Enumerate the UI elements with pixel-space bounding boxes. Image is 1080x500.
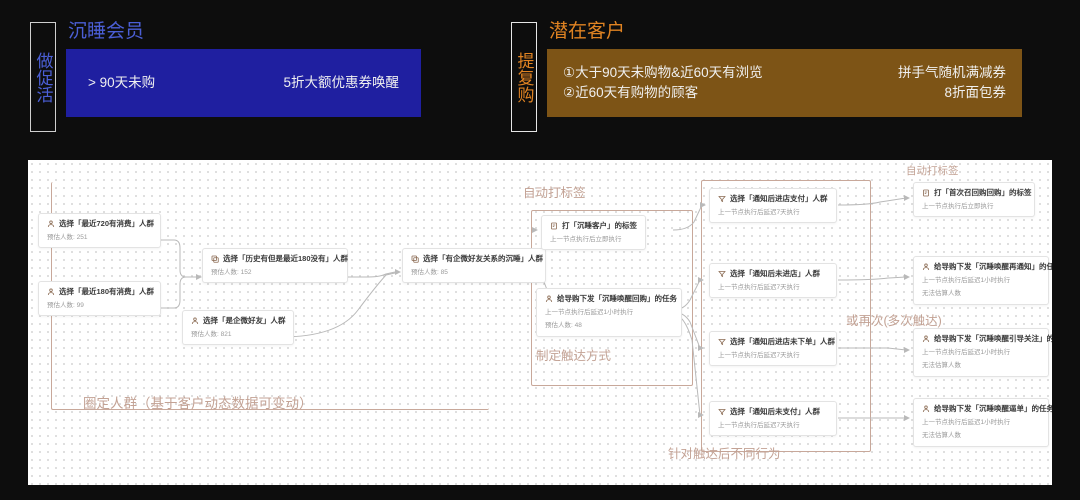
header-body-activation: 沉睡会员 > 90天未购 5折大额优惠券唤醒 bbox=[66, 22, 421, 117]
node-title-row: 选择「有企微好友关系的沉睡」人群 bbox=[411, 254, 538, 264]
node-title: 打「首次召回购回购」的标签 bbox=[934, 188, 1032, 198]
rule-reward: 拼手气随机满减券 bbox=[898, 63, 1006, 83]
node-title: 给导购下发「沉睡唤醒回购」的任务 bbox=[557, 294, 677, 304]
filter-icon bbox=[718, 195, 726, 203]
tag-icon bbox=[550, 222, 558, 230]
node-title-row: 选择「通知后进店支付」人群 bbox=[718, 194, 829, 204]
flow-node[interactable]: 选择「最近720有消费」人群 预估人数: 251 bbox=[38, 213, 161, 248]
node-title-row: 选择「是企微好友」人群 bbox=[191, 316, 286, 326]
campaign-header-activation: 做促活 沉睡会员 > 90天未购 5折大额优惠券唤醒 bbox=[30, 22, 421, 132]
node-detail: 上一节点执行后延迟7天执行 bbox=[718, 284, 829, 292]
flow-node[interactable]: 打「沉睡客户」的标签 上一节点执行后立即执行 bbox=[541, 215, 646, 250]
node-detail: 上一节点执行后延迟7天执行 bbox=[718, 209, 829, 217]
rule-condition: ①大于90天未购物&近60天有浏览 bbox=[563, 63, 763, 83]
node-title: 选择「是企微好友」人群 bbox=[203, 316, 286, 326]
node-detail: 无法估算人数 bbox=[922, 432, 1041, 440]
flow-node[interactable]: 选择「是企微好友」人群 预估人数: 821 bbox=[182, 310, 294, 345]
node-title: 给导购下发「沉睡唤醒再通知」的任务 bbox=[934, 262, 1052, 272]
annotation-behavior: 针对触达后不同行为 bbox=[668, 443, 781, 462]
header-title-potential-customers: 潜在客户 bbox=[549, 22, 1022, 43]
rule-reward: 5折大额优惠券唤醒 bbox=[283, 73, 399, 93]
user-icon bbox=[545, 295, 553, 303]
node-title: 给导购下发「沉睡唤醒逼单」的任务 bbox=[934, 404, 1052, 414]
node-detail: 无法估算人数 bbox=[922, 290, 1041, 298]
flow-node[interactable]: 给导购下发「沉睡唤醒再通知」的任务 上一节点执行后延迟1小时执行 无法估算人数 bbox=[913, 256, 1049, 305]
node-title: 选择「通知后未进店」人群 bbox=[730, 269, 820, 279]
header-body-repurchase: 潜在客户 ①大于90天未购物&近60天有浏览 拼手气随机满减券 ②近60天有购物… bbox=[547, 22, 1022, 117]
flow-node[interactable]: 选择「有企微好友关系的沉睡」人群 预估人数: 85 bbox=[402, 248, 546, 283]
node-title: 选择「最近180有消费」人群 bbox=[59, 287, 154, 297]
user-icon bbox=[922, 263, 930, 271]
node-title: 选择「通知后进店支付」人群 bbox=[730, 194, 828, 204]
user-icon bbox=[922, 405, 930, 413]
node-detail: 上一节点执行后立即执行 bbox=[922, 203, 1027, 211]
flow-node[interactable]: 选择「通知后未进店」人群 上一节点执行后延迟7天执行 bbox=[709, 263, 837, 298]
flow-node[interactable]: 选择「历史有但是最近180没有」人群 预估人数: 152 bbox=[202, 248, 348, 283]
rule-box-activation: > 90天未购 5折大额优惠券唤醒 bbox=[66, 49, 421, 117]
node-detail: 预估人数: 821 bbox=[191, 331, 286, 339]
user-icon bbox=[47, 288, 55, 296]
filter-icon bbox=[718, 338, 726, 346]
node-title-row: 给导购下发「沉睡唤醒逼单」的任务 bbox=[922, 404, 1041, 414]
node-title: 选择「通知后进店未下单」人群 bbox=[730, 337, 835, 347]
node-title-row: 打「首次召回购回购」的标签 bbox=[922, 188, 1027, 198]
node-detail: 预估人数: 152 bbox=[211, 269, 340, 277]
node-title-row: 选择「通知后未支付」人群 bbox=[718, 407, 829, 417]
annotation-autotag-1: 自动打标签 bbox=[523, 182, 586, 201]
node-title-row: 选择「最近180有消费」人群 bbox=[47, 287, 153, 297]
node-title: 给导购下发「沉睡唤醒引导关注」的任务 bbox=[934, 334, 1052, 344]
filter-icon bbox=[718, 408, 726, 416]
node-title-row: 选择「通知后进店未下单」人群 bbox=[718, 337, 829, 347]
node-title-row: 给导购下发「沉睡唤醒再通知」的任务 bbox=[922, 262, 1041, 272]
node-detail: 上一节点执行后延迟7天执行 bbox=[718, 352, 829, 360]
node-title-row: 给导购下发「沉睡唤醒引导关注」的任务 bbox=[922, 334, 1041, 344]
node-title-row: 选择「通知后未进店」人群 bbox=[718, 269, 829, 279]
node-title: 选择「有企微好友关系的沉睡」人群 bbox=[423, 254, 543, 264]
node-title: 打「沉睡客户」的标签 bbox=[562, 221, 637, 231]
copy-icon bbox=[211, 255, 219, 263]
node-title: 选择「最近720有消费」人群 bbox=[59, 219, 154, 229]
flow-node[interactable]: 给导购下发「沉睡唤醒回购」的任务 上一节点执行后延迟1小时执行 预估人数: 48 bbox=[536, 288, 682, 337]
node-title-row: 给导购下发「沉睡唤醒回购」的任务 bbox=[545, 294, 674, 304]
campaign-header-repurchase: 提复购 潜在客户 ①大于90天未购物&近60天有浏览 拼手气随机满减券 ②近60… bbox=[511, 22, 1022, 132]
user-icon bbox=[922, 335, 930, 343]
header-title-sleeping-members: 沉睡会员 bbox=[68, 22, 421, 43]
annotation-segment: 圈定人群（基于客户动态数据可变动） bbox=[83, 392, 313, 412]
vertical-tab-activation: 做促活 bbox=[30, 22, 56, 132]
user-icon bbox=[191, 317, 199, 325]
rule-row: ①大于90天未购物&近60天有浏览 拼手气随机满减券 bbox=[563, 63, 1006, 83]
rule-condition: > 90天未购 bbox=[88, 73, 155, 93]
flow-node[interactable]: 打「首次召回购回购」的标签 上一节点执行后立即执行 bbox=[913, 182, 1035, 217]
vertical-tab-repurchase: 提复购 bbox=[511, 22, 537, 132]
flow-node[interactable]: 给导购下发「沉睡唤醒引导关注」的任务 上一节点执行后延迟1小时执行 无法估算人数 bbox=[913, 328, 1049, 377]
node-detail: 预估人数: 251 bbox=[47, 234, 153, 242]
node-title: 选择「通知后未支付」人群 bbox=[730, 407, 820, 417]
flow-canvas[interactable]: 选择「最近720有消费」人群 预估人数: 251 选择「最近180有消费」人群 … bbox=[28, 160, 1052, 485]
node-detail: 上一节点执行后延迟1小时执行 bbox=[922, 277, 1041, 285]
tag-icon bbox=[922, 189, 930, 197]
node-title-row: 选择「最近720有消费」人群 bbox=[47, 219, 153, 229]
rule-row: > 90天未购 5折大额优惠券唤醒 bbox=[88, 73, 399, 93]
node-detail: 上一节点执行后延迟1小时执行 bbox=[545, 309, 674, 317]
node-detail: 预估人数: 48 bbox=[545, 322, 674, 330]
flow-node[interactable]: 选择「通知后进店未下单」人群 上一节点执行后延迟7天执行 bbox=[709, 331, 837, 366]
annotation-reach: 制定触达方式 bbox=[536, 345, 611, 364]
filter-icon bbox=[718, 270, 726, 278]
flow-node[interactable]: 选择「通知后进店支付」人群 上一节点执行后延迟7天执行 bbox=[709, 188, 837, 223]
user-icon bbox=[47, 220, 55, 228]
flow-node[interactable]: 给导购下发「沉睡唤醒逼单」的任务 上一节点执行后延迟1小时执行 无法估算人数 bbox=[913, 398, 1049, 447]
node-detail: 预估人数: 85 bbox=[411, 269, 538, 277]
node-detail: 上一节点执行后延迟1小时执行 bbox=[922, 349, 1041, 357]
node-detail: 无法估算人数 bbox=[922, 362, 1041, 370]
annotation-autotag-2: 自动打标签 bbox=[906, 163, 959, 178]
node-detail: 预估人数: 99 bbox=[47, 302, 153, 310]
rule-row: ②近60天有购物的顾客 8折面包券 bbox=[563, 83, 1006, 103]
node-detail: 上一节点执行后延迟7天执行 bbox=[718, 422, 829, 430]
node-title-row: 选择「历史有但是最近180没有」人群 bbox=[211, 254, 340, 264]
annotation-again: 或再次(多次触达) bbox=[846, 310, 942, 329]
node-title-row: 打「沉睡客户」的标签 bbox=[550, 221, 638, 231]
flow-node[interactable]: 选择「通知后未支付」人群 上一节点执行后延迟7天执行 bbox=[709, 401, 837, 436]
copy-icon bbox=[411, 255, 419, 263]
rule-condition: ②近60天有购物的顾客 bbox=[563, 83, 698, 103]
rule-reward: 8折面包券 bbox=[944, 83, 1006, 103]
node-detail: 上一节点执行后立即执行 bbox=[550, 236, 638, 244]
node-detail: 上一节点执行后延迟1小时执行 bbox=[922, 419, 1041, 427]
node-title: 选择「历史有但是最近180没有」人群 bbox=[223, 254, 348, 264]
flow-node[interactable]: 选择「最近180有消费」人群 预估人数: 99 bbox=[38, 281, 161, 316]
rule-box-repurchase: ①大于90天未购物&近60天有浏览 拼手气随机满减券 ②近60天有购物的顾客 8… bbox=[547, 49, 1022, 117]
